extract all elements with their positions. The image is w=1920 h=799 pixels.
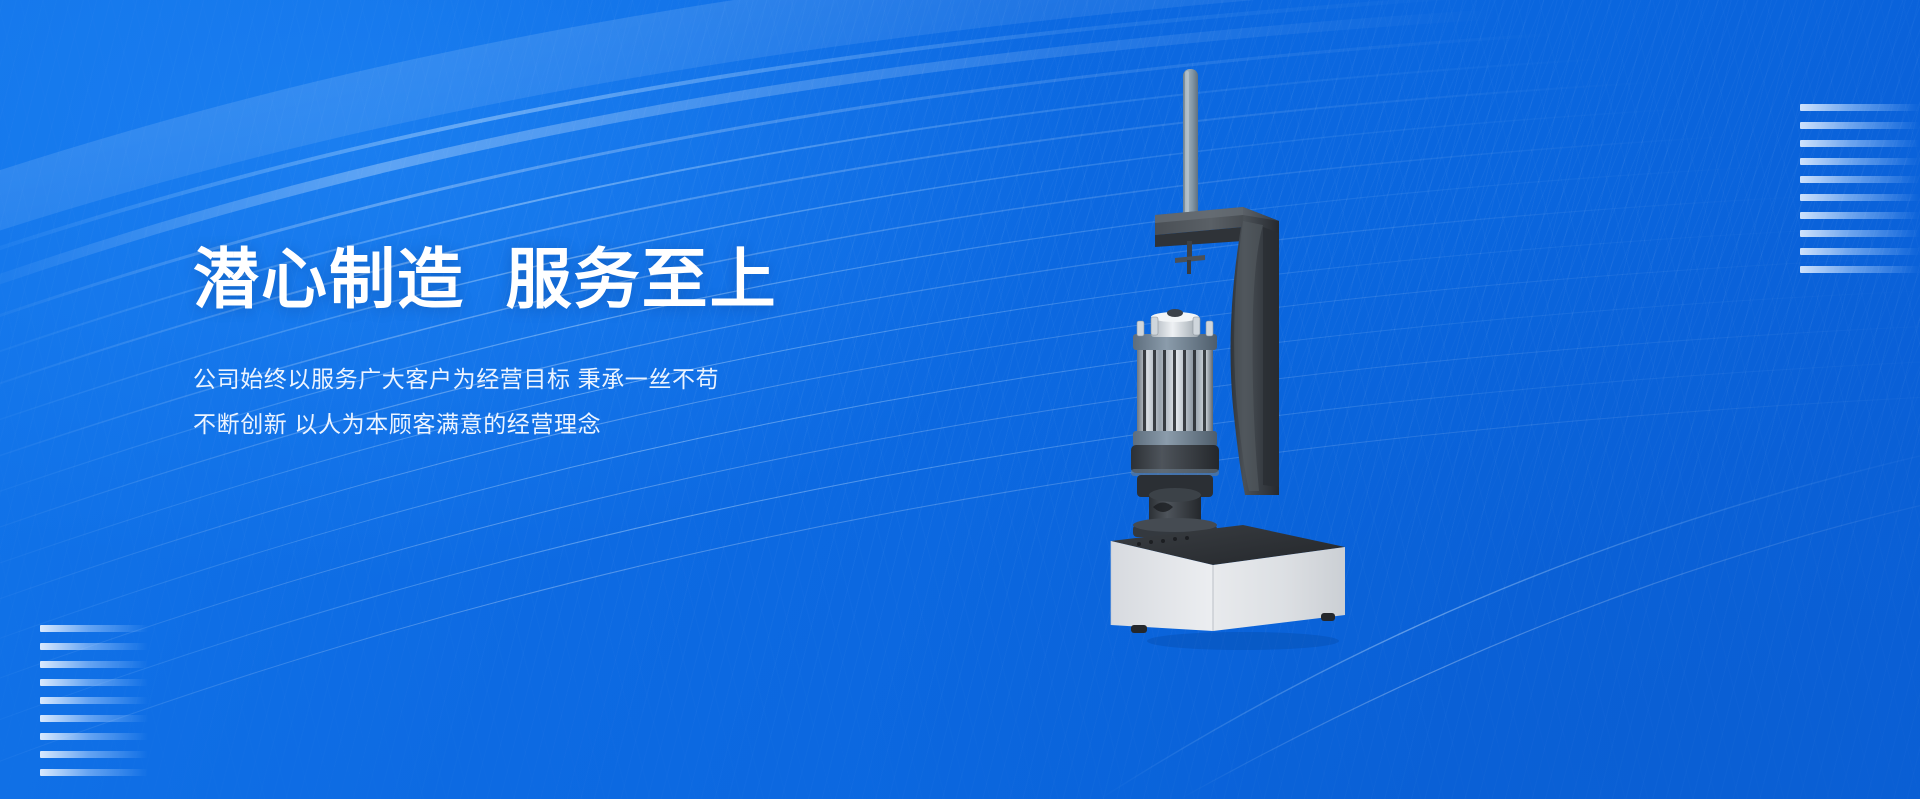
decor-bar bbox=[40, 697, 148, 704]
left-bar-stack-decoration bbox=[40, 625, 148, 787]
finned-rotor-cylinder bbox=[1133, 309, 1217, 447]
decor-bar bbox=[40, 679, 148, 686]
right-bar-stack-decoration bbox=[1800, 104, 1920, 284]
tool-chuck bbox=[1175, 241, 1205, 274]
decor-bar bbox=[1800, 104, 1920, 111]
decor-bar bbox=[1800, 176, 1920, 183]
decor-bar bbox=[40, 643, 148, 650]
base-hub bbox=[1131, 445, 1219, 537]
banner-subtitle-line-2: 不断创新 以人为本顾客满意的经营理念 bbox=[193, 402, 1013, 447]
decor-bar bbox=[40, 751, 148, 758]
decor-bar bbox=[40, 769, 148, 776]
banner-headline: 潜心制造 服务至上 bbox=[193, 246, 1013, 313]
c-frame-column bbox=[1231, 207, 1279, 495]
banner-copy: 潜心制造 服务至上 公司始终以服务广大客户为经营目标 秉承一丝不苟 不断创新 以… bbox=[193, 246, 1013, 447]
hero-banner: 潜心制造 服务至上 公司始终以服务广大客户为经营目标 秉承一丝不苟 不断创新 以… bbox=[0, 0, 1920, 799]
decor-bar bbox=[1800, 194, 1920, 201]
vertical-shaft bbox=[1183, 69, 1198, 221]
decor-bar bbox=[1800, 140, 1920, 147]
decor-bar bbox=[40, 733, 148, 740]
decor-bar bbox=[1800, 212, 1920, 219]
decor-bar bbox=[1800, 122, 1920, 129]
decor-bar bbox=[1800, 158, 1920, 165]
decor-bar bbox=[40, 625, 148, 632]
decor-bar bbox=[1800, 248, 1920, 255]
banner-subtitle-line-1: 公司始终以服务广大客户为经营目标 秉承一丝不苟 bbox=[193, 357, 1013, 402]
decor-bar bbox=[40, 715, 148, 722]
decor-bar bbox=[1800, 230, 1920, 237]
decor-bar bbox=[40, 661, 148, 668]
decor-bar bbox=[1800, 266, 1920, 273]
product-machine-illustration bbox=[1093, 55, 1393, 655]
banner-subtitle: 公司始终以服务广大客户为经营目标 秉承一丝不苟 不断创新 以人为本顾客满意的经营… bbox=[193, 313, 1013, 447]
white-base-cabinet bbox=[1111, 525, 1345, 631]
